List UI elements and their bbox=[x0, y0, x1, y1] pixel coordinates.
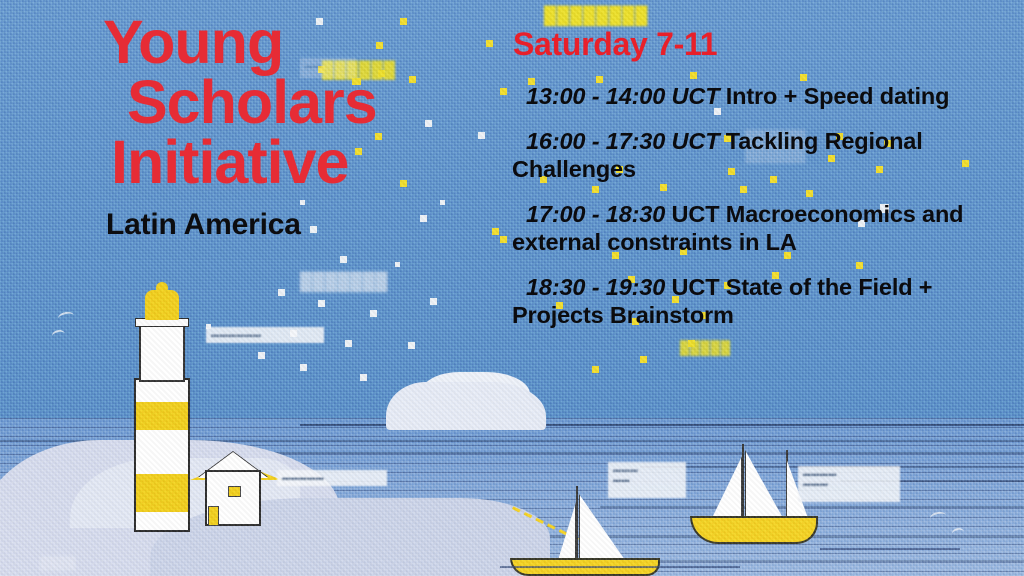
poster-canvas: ████████ ██████ █████ ███████ ███ ████ ▬… bbox=[0, 0, 1024, 576]
house-window bbox=[228, 486, 241, 497]
speck bbox=[408, 342, 415, 349]
schedule-item-time: 17:00 - 18:30 bbox=[526, 201, 665, 227]
page-subtitle: Latin America bbox=[106, 208, 301, 242]
speck bbox=[278, 289, 285, 296]
title-line-2: Scholars bbox=[103, 72, 433, 132]
schedule-item: 17:00 - 18:30 UCT Macroeconomics and ext… bbox=[512, 200, 1018, 256]
speck bbox=[690, 72, 697, 79]
speck bbox=[318, 300, 325, 307]
schedule-item: 13:00 - 14:00 UCT Intro + Speed dating bbox=[512, 82, 1018, 110]
schedule-title: Saturday 7-11 bbox=[513, 26, 717, 63]
lighthouse-upper-tower bbox=[139, 324, 185, 382]
label-box: ▬▬▬▬▬▬ bbox=[206, 327, 324, 343]
wave bbox=[500, 566, 740, 568]
speck bbox=[310, 226, 317, 233]
speck bbox=[478, 132, 485, 139]
speck bbox=[345, 340, 352, 347]
wave bbox=[820, 548, 960, 550]
house-door bbox=[208, 506, 219, 526]
speck bbox=[492, 228, 499, 235]
speck bbox=[340, 256, 347, 263]
lighthouse-band-upper bbox=[136, 402, 188, 430]
boat-hull bbox=[690, 516, 818, 544]
speck bbox=[440, 200, 445, 205]
speck bbox=[360, 374, 367, 381]
boat-sail-fore bbox=[712, 456, 742, 518]
schedule-item-timezone: UCT bbox=[665, 274, 719, 300]
schedule-item-time: 16:00 - 17:30 bbox=[526, 128, 665, 154]
speck bbox=[300, 200, 305, 205]
schedule-item-time: 18:30 - 19:30 bbox=[526, 274, 665, 300]
schedule-item-description: Intro + Speed dating bbox=[719, 83, 949, 109]
speck bbox=[370, 310, 377, 317]
watermark-yellow-top: ████████ bbox=[544, 6, 648, 26]
schedule-item-timezone: UCT bbox=[665, 128, 719, 154]
speck bbox=[420, 215, 427, 222]
boat-mast bbox=[742, 444, 744, 518]
speck bbox=[430, 298, 437, 305]
speck bbox=[500, 88, 507, 95]
schedule-list: 13:00 - 14:00 UCT Intro + Speed dating 1… bbox=[512, 82, 1018, 346]
page-title: Young Scholars Initiative bbox=[103, 12, 433, 192]
speck bbox=[258, 352, 265, 359]
speck bbox=[500, 236, 507, 243]
label-box: ▬▬▬ ▬▬ bbox=[608, 462, 686, 498]
label-box: ▬▬▬▬▬ bbox=[277, 470, 387, 486]
boat-sail-mid bbox=[745, 450, 783, 518]
title-line-1: Young bbox=[103, 8, 283, 76]
speck bbox=[486, 40, 493, 47]
sea-line bbox=[240, 452, 1024, 454]
lighthouse-finial bbox=[156, 282, 168, 294]
label-box: ▬▬▬▬ ▬▬▬ bbox=[798, 466, 900, 502]
speck bbox=[592, 366, 599, 373]
boat-mast bbox=[576, 486, 578, 560]
schedule-item-timezone: UCT bbox=[665, 201, 719, 227]
speck bbox=[300, 364, 307, 371]
lighthouse bbox=[128, 282, 196, 532]
schedule-item: 18:30 - 19:30 UCT State of the Field + P… bbox=[512, 273, 1018, 329]
schedule-item: 16:00 - 17:30 UCT Tackling Regional Chal… bbox=[512, 127, 1018, 183]
speck bbox=[395, 262, 400, 267]
speck bbox=[800, 74, 807, 81]
lighthouse-lamp bbox=[145, 290, 179, 320]
schedule-item-time: 13:00 - 14:00 bbox=[526, 83, 665, 109]
boat-sail-main bbox=[579, 494, 625, 560]
speck bbox=[640, 356, 647, 363]
title-line-3: Initiative bbox=[103, 132, 433, 192]
schedule-item-timezone: UCT bbox=[665, 83, 719, 109]
lighthouse-band-lower bbox=[136, 474, 188, 512]
boat-flag-line bbox=[512, 506, 590, 546]
iceberg bbox=[386, 382, 546, 430]
